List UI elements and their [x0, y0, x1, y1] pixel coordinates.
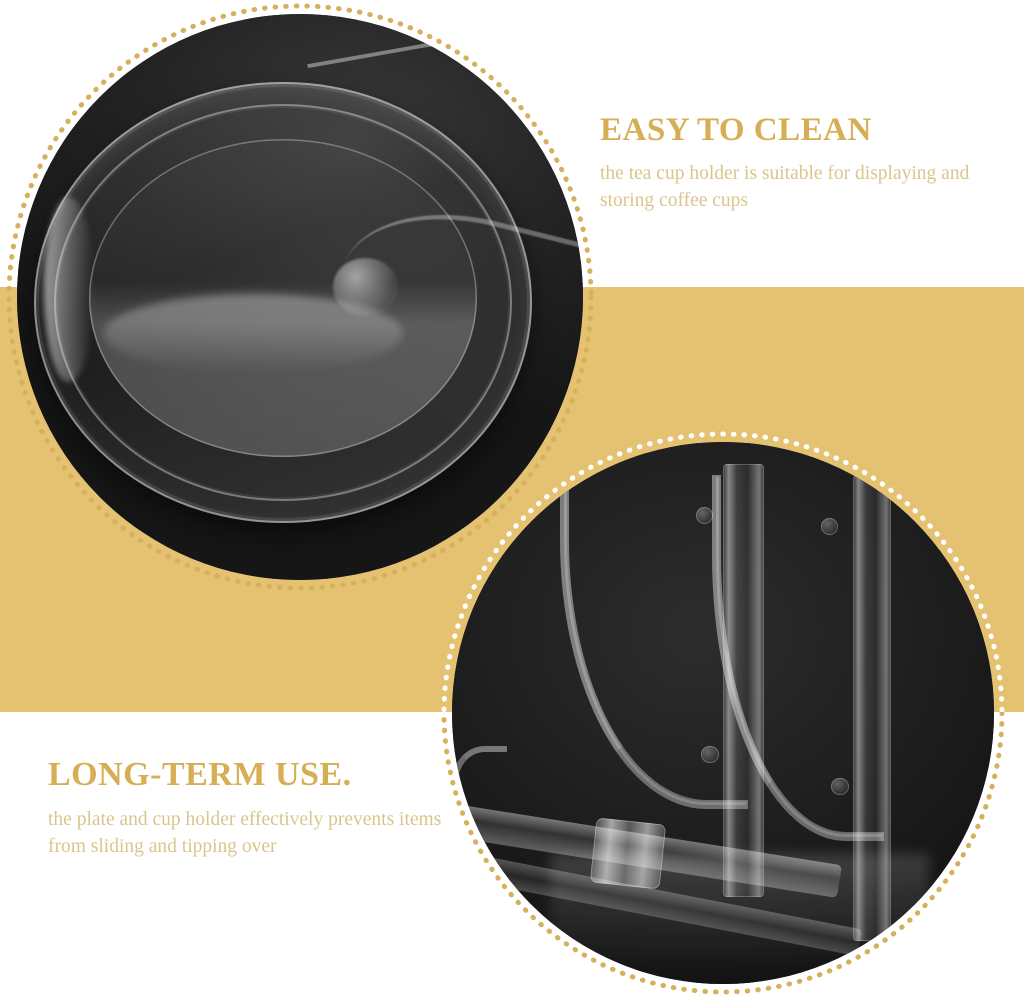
feature-text-long-term-use: LONG-TERM USE. the plate and cup holder … [48, 756, 468, 861]
plate-edge-highlight [44, 197, 94, 382]
stand-knob [333, 258, 398, 315]
stand-rivet-3 [701, 746, 718, 763]
stand-rivet-2 [821, 518, 838, 535]
feature-headline: LONG-TERM USE. [48, 756, 468, 794]
product-feature-poster: EASY TO CLEAN the tea cup holder is suit… [0, 0, 1024, 1003]
stand-rivet-4 [831, 778, 848, 795]
feature-subtext: the plate and cup holder effectively pre… [48, 807, 468, 861]
feature-subtext: the tea cup holder is suitable for displ… [600, 161, 1000, 215]
feature-photo-long-term-use [452, 442, 994, 984]
stand-base-glow [550, 854, 929, 973]
feature-headline: EASY TO CLEAN [600, 112, 1000, 149]
feature-text-easy-to-clean: EASY TO CLEAN the tea cup holder is suit… [600, 112, 1000, 215]
stand-photo [452, 442, 994, 984]
